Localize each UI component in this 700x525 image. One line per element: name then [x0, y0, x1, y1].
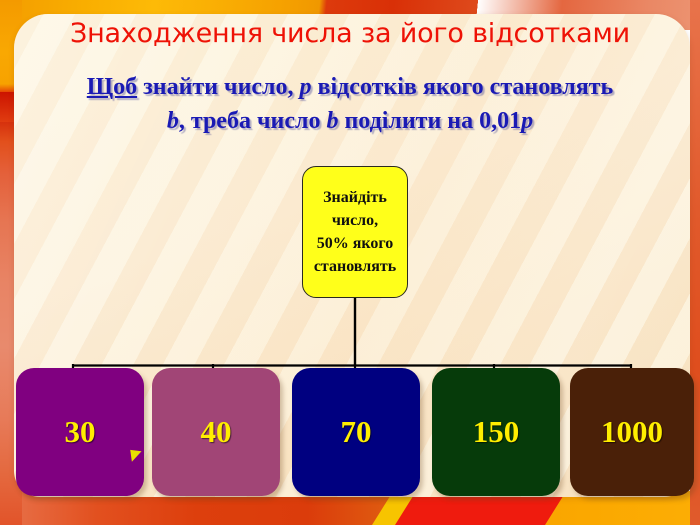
question-node: Знайдіть число, 50% якого становлять	[302, 166, 408, 298]
answer-option-label: 70	[341, 414, 372, 450]
rule-line1-text-a: знайти число,	[137, 74, 299, 100]
question-line-2: число,	[332, 212, 378, 229]
stray-marker-icon	[130, 448, 143, 461]
rule-variable-b1: b	[167, 108, 179, 134]
question-line-3: 50% якого	[317, 235, 394, 252]
slide-canvas: Знаходження числа за його відсотками Щоб…	[0, 0, 700, 525]
answer-option-30[interactable]: 30	[16, 368, 144, 496]
rule-line1-lead: Щоб	[87, 74, 137, 100]
rule-line2-text-b: поділити на 0,01	[338, 108, 521, 134]
answer-option-1000[interactable]: 1000	[570, 368, 694, 496]
rule-statement: Щоб знайти число, p відсотків якого стан…	[10, 70, 690, 138]
question-line-1: Знайдіть	[323, 189, 387, 206]
rule-variable-p2: p	[521, 108, 533, 134]
question-node-text: Знайдіть число, 50% якого становлять	[314, 186, 396, 278]
question-line-4: становлять	[314, 258, 396, 275]
page-title: Знаходження числа за його відсотками	[0, 18, 700, 49]
answer-option-label: 30	[65, 414, 96, 450]
answer-option-40[interactable]: 40	[152, 368, 280, 496]
answer-option-label: 40	[201, 414, 232, 450]
answer-option-150[interactable]: 150	[432, 368, 560, 496]
answer-option-label: 150	[473, 414, 520, 450]
rule-variable-b2: b	[326, 108, 338, 134]
rule-variable-p: p	[300, 74, 312, 100]
rule-line1-text-b: відсотків якого становлять	[312, 74, 614, 100]
answer-option-70[interactable]: 70	[292, 368, 420, 496]
answer-option-label: 1000	[601, 414, 663, 450]
rule-line2-text-a: , треба число	[179, 108, 327, 134]
